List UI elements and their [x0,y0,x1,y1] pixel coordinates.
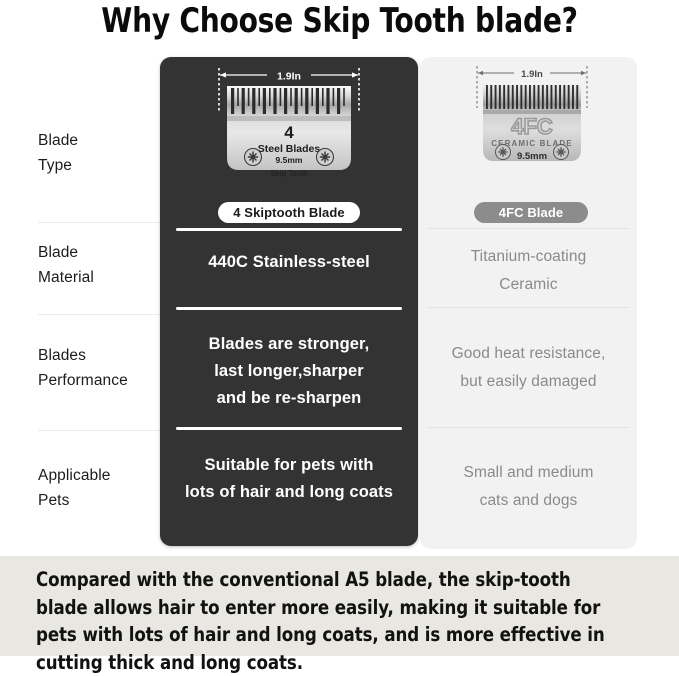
cell-line: lots of hair and long coats [168,479,410,506]
cell-line: last longer,sharper [172,358,406,385]
cell-line: Titanium-coating [428,243,629,271]
cell-line: and be re-sharpen [172,385,406,412]
fc-performance-cell: Good heat resistance, but easily damaged [428,340,629,396]
svg-text:1.9In: 1.9In [521,69,543,80]
row-label-applicable-pets: Applicable Pets [38,463,163,513]
blade-size-text: 9.5mm [276,155,303,165]
screw-icon [317,149,334,166]
cell-line: cats and dogs [428,487,629,515]
cell-line: but easily damaged [428,368,629,396]
light-panel-separator [428,427,629,428]
dark-panel-separator [176,427,402,430]
skiptooth-blade-pill-label: 4 Skiptooth Blade [218,202,360,223]
screw-icon [496,145,511,160]
blade-footer-text: Skip Tooth [270,169,307,178]
skiptooth-material-cell: 440C Stainless-steel [172,249,406,276]
dark-panel-separator [176,228,402,231]
row-label-blade-type: Blade Type [38,128,163,178]
row-label-blades-performance: Blades Performance [38,343,163,393]
row-divider [38,430,166,431]
screw-icon [554,145,569,160]
row-divider [38,222,166,223]
row-label-line-1: Applicable [38,463,163,488]
blade-type-text: Steel Blades [258,143,321,155]
row-label-line-2: Pets [38,488,163,513]
bottom-caption-banner: Compared with the conventional A5 blade,… [0,556,679,656]
blade-number-text: 4 [284,123,294,142]
skiptooth-pets-cell: Suitable for pets with lots of hair and … [168,452,410,506]
light-panel-separator [428,307,629,308]
dark-panel-separator [176,307,402,310]
row-label-blade-material: Blade Material [38,240,163,290]
row-label-line-2: Performance [38,368,163,393]
screw-icon [245,149,262,166]
row-label-line-1: Blades [38,343,163,368]
page-title: Why Choose Skip Tooth blade? [27,2,652,40]
row-label-line-2: Type [38,153,163,178]
row-label-line-1: Blade [38,240,163,265]
fc-pets-cell: Small and medium cats and dogs [428,459,629,515]
cell-line: Blades are stronger, [172,331,406,358]
row-label-line-2: Material [38,265,163,290]
banner-text: Compared with the conventional A5 blade,… [36,566,617,676]
fc-blade-image: 1.9In 4FC CERAMIC BLADE 9.5mm [466,64,598,184]
fc-material-cell: Titanium-coating Ceramic [428,243,629,299]
light-panel-separator [428,228,629,229]
cell-line: Small and medium [428,459,629,487]
cell-line: Good heat resistance, [428,340,629,368]
fc-blade-pill-label: 4FC Blade [474,202,588,223]
svg-text:1.9In: 1.9In [277,71,301,83]
row-label-line-1: Blade [38,128,163,153]
blade-size-text: 9.5mm [517,151,547,162]
skiptooth-blade-image: 1.9In 4 Steel Blades 9.5mm Skip Tooth [205,64,373,192]
cell-line: Suitable for pets with [168,452,410,479]
cell-line: Ceramic [428,271,629,299]
row-divider [38,314,166,315]
blade-number-text: 4FC [511,114,553,139]
skiptooth-performance-cell: Blades are stronger, last longer,sharper… [172,331,406,412]
